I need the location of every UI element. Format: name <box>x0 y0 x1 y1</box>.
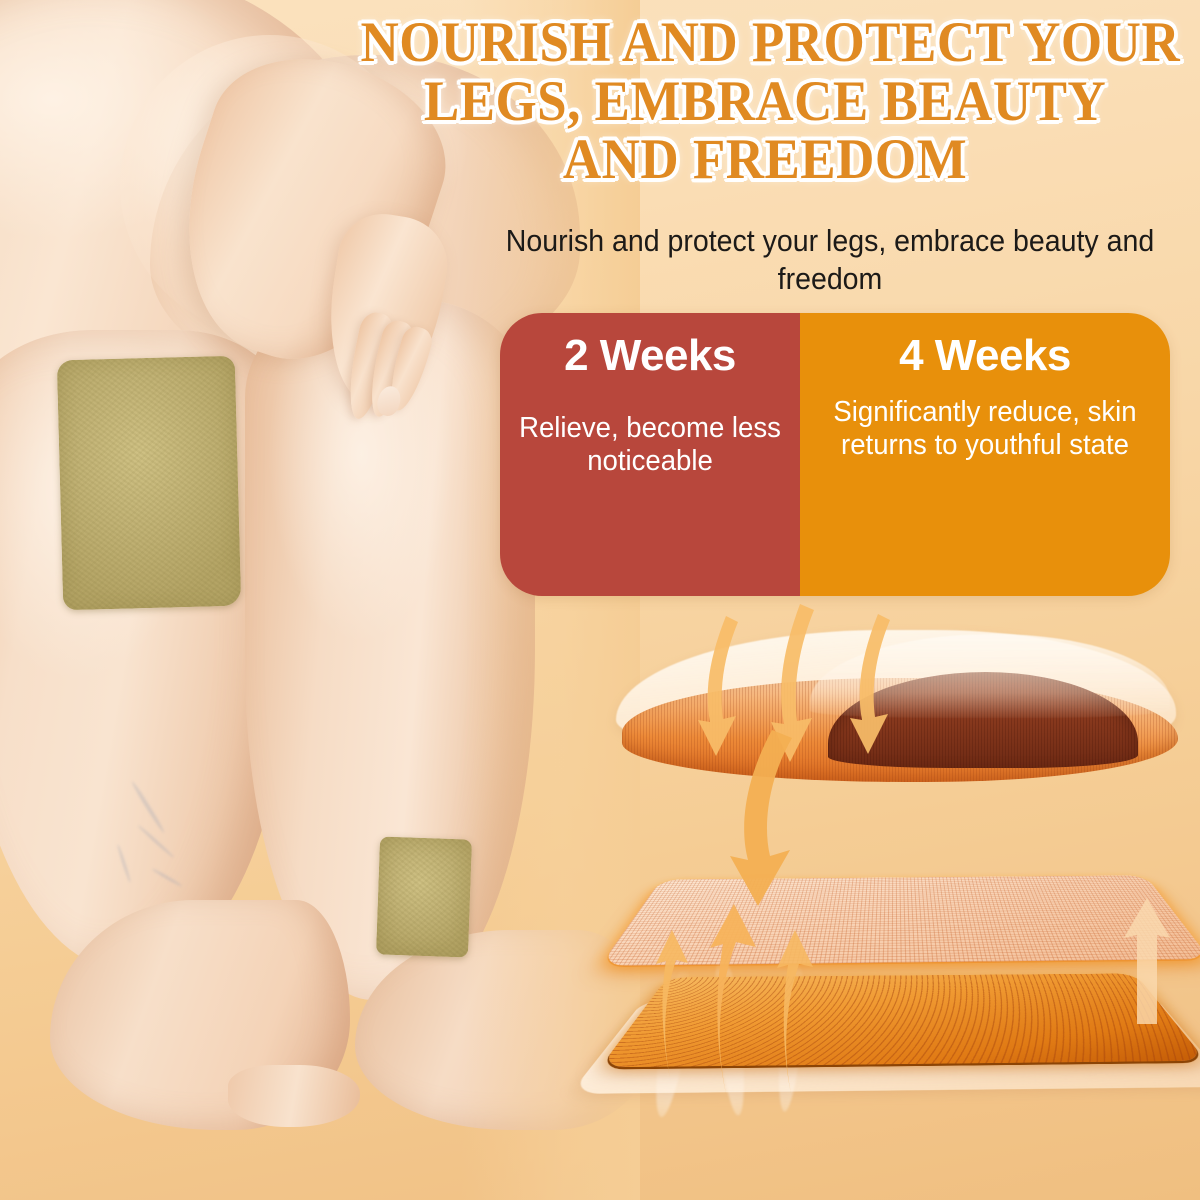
patch-layer-diagram <box>600 612 1200 1112</box>
timeline-comparison-card: 2 Weeks Relieve, become less noticeable … <box>500 313 1170 596</box>
headline-line-2: LEGS, EMBRACE BEAUTY <box>360 73 1169 132</box>
ankle-patch <box>376 836 472 957</box>
subtitle: Nourish and protect your legs, embrace b… <box>499 222 1161 298</box>
headline-line-3: AND FREEDOM <box>360 131 1169 190</box>
toes <box>228 1065 360 1127</box>
product-advertisement-poster: NOURISH AND PROTECT YOUR LEGS, EMBRACE B… <box>0 0 1200 1200</box>
headline: NOURISH AND PROTECT YOUR LEGS, EMBRACE B… <box>360 14 1169 190</box>
arrow-up-icon <box>704 904 764 1104</box>
arrow-up-icon <box>1120 898 1174 1028</box>
panel-4-weeks: 4 Weeks Significantly reduce, skin retur… <box>800 313 1170 596</box>
panel-2-weeks-title: 2 Weeks <box>564 331 736 380</box>
panel-2-weeks-body: Relieve, become less noticeable <box>519 412 781 478</box>
arrow-down-icon <box>848 614 904 784</box>
panel-4-weeks-title: 4 Weeks <box>899 331 1071 380</box>
calf-patch <box>57 356 241 611</box>
panel-4-weeks-body: Significantly reduce, skin returns to yo… <box>821 396 1150 462</box>
panel-2-weeks: 2 Weeks Relieve, become less noticeable <box>500 313 800 596</box>
arrow-up-icon <box>652 930 692 1080</box>
arrow-up-icon <box>772 930 818 1100</box>
arrow-down-icon <box>728 730 818 910</box>
headline-line-1: NOURISH AND PROTECT YOUR <box>360 14 1169 73</box>
